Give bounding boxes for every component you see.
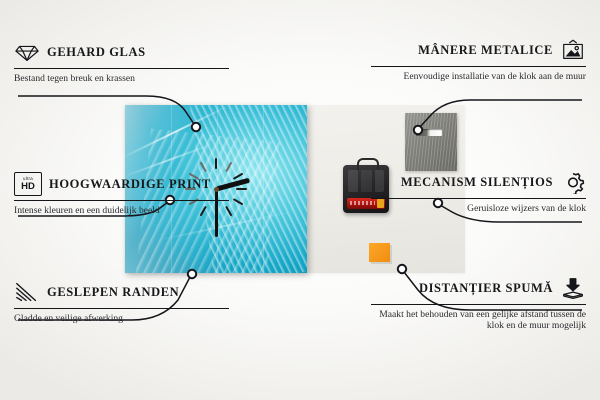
feature-description: Intense kleuren en een duidelijk beeld (14, 205, 229, 216)
divider (14, 68, 229, 69)
feature-gehard-glas: GEHARD GLAS Bestand tegen breuk en krass… (14, 40, 229, 84)
feature-title: GESLEPEN RANDEN (47, 285, 179, 299)
feature-description: Eenvoudige installatie van de klok aan d… (371, 71, 586, 82)
feature-description: Gladde en veilige afwerking (14, 313, 229, 324)
foam-spacer (369, 243, 390, 262)
feature-title: DISTANȚIER SPUMĂ (419, 281, 553, 295)
reflection-pane (263, 105, 264, 273)
ultra-hd-icon-main: HD (21, 182, 35, 192)
divider (14, 308, 229, 309)
hanger-slot (416, 129, 442, 136)
feature-geslepen-randen: GESLEPEN RANDEN Gladde en veilige afwerk… (14, 280, 229, 324)
divider (371, 198, 586, 199)
divider (371, 304, 586, 305)
picture-hanging-icon (560, 38, 586, 62)
feature-title: GEHARD GLAS (47, 45, 146, 59)
metal-hanger-plate (405, 113, 457, 171)
feature-mecanism-silentios: MECANISM SILENȚIOS Geruisloze wijzers va… (371, 170, 586, 214)
diamond-icon (14, 40, 40, 64)
beveled-edge-icon (14, 280, 40, 304)
feature-title: MÂNERE METALICE (418, 43, 553, 57)
spacer-down-arrow-icon (560, 276, 586, 300)
ultra-hd-icon: ultra HD (14, 172, 42, 196)
feature-description: Maakt het behouden van een gelijke afsta… (371, 309, 586, 332)
divider (371, 66, 586, 67)
gear-icon (560, 170, 586, 194)
feature-distantier-spuma: DISTANȚIER SPUMĂ Maakt het behouden van … (371, 276, 586, 332)
movement-hanger-loop (357, 158, 379, 170)
feature-description: Geruisloze wijzers van de klok (371, 203, 586, 214)
feature-title: HOOGWAARDIGE PRINT (49, 177, 211, 191)
feature-hoogwaardige-print: ultra HD HOOGWAARDIGE PRINT Intense kleu… (14, 172, 229, 216)
feature-manere-metalice: MÂNERE METALICE Eenvoudige installatie v… (371, 38, 586, 82)
feature-title: MECANISM SILENȚIOS (401, 175, 553, 189)
feature-description: Bestand tegen breuk en krassen (14, 73, 229, 84)
infographic-canvas: GEHARD GLAS Bestand tegen breuk en krass… (0, 0, 600, 400)
divider (14, 200, 229, 201)
